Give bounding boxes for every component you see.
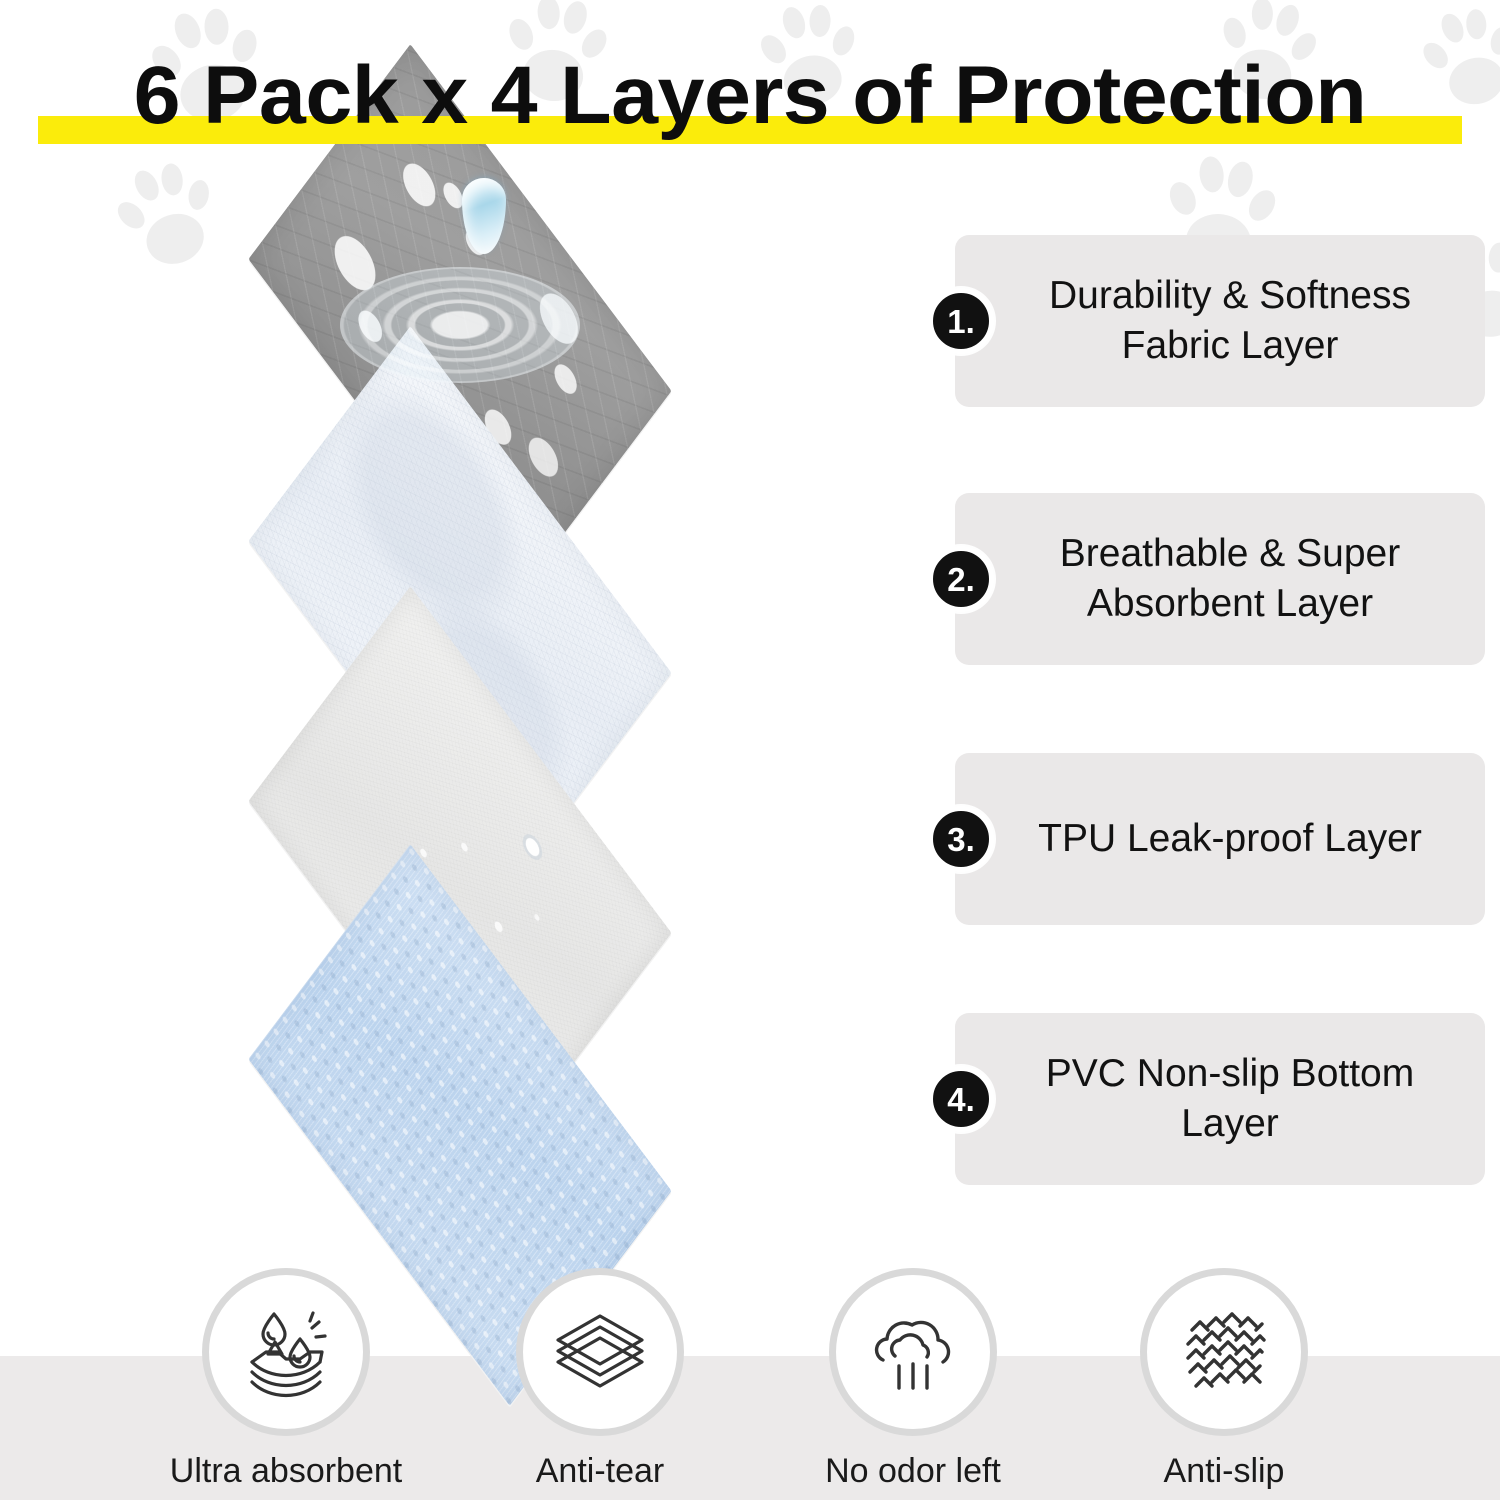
product-infographic: 6 Pack x 4 Layers of Protection Durabili…: [0, 0, 1500, 1500]
stacked-sheets-icon: [548, 1300, 652, 1404]
feature-label: Ultra absorbent: [136, 1452, 436, 1491]
feature-icon-circle: [829, 1268, 997, 1436]
feature-icon-circle: [202, 1268, 370, 1436]
cloud-rain-icon: [861, 1300, 965, 1404]
layer-card-3[interactable]: TPU Leak-proof Layer: [955, 753, 1485, 925]
crosshatch-texture-icon: [1172, 1300, 1276, 1404]
layer-card-1[interactable]: Durability & Softness Fabric Layer: [955, 235, 1485, 407]
feature-label: Anti-slip: [1074, 1452, 1374, 1491]
feature-anti-slip[interactable]: Anti-slip: [1074, 1268, 1374, 1491]
feature-anti-tear[interactable]: Anti-tear: [450, 1268, 750, 1491]
feature-icon-circle: [1140, 1268, 1308, 1436]
feature-no-odor-left[interactable]: No odor left: [763, 1268, 1063, 1491]
layer-card-2[interactable]: Breathable & Super Absorbent Layer: [955, 493, 1485, 665]
layer-badge-1: 1.: [928, 288, 994, 354]
layer-card-4[interactable]: PVC Non-slip Bottom Layer: [955, 1013, 1485, 1185]
layer-card-2-label: Breathable & Super Absorbent Layer: [970, 529, 1470, 629]
layer-card-3-label: TPU Leak-proof Layer: [992, 814, 1448, 864]
layer-card-4-label: PVC Non-slip Bottom Layer: [970, 1049, 1470, 1149]
feature-row: Ultra absorbent Anti-tear: [0, 1268, 1500, 1500]
water-drops-on-layers-icon: [234, 1300, 338, 1404]
layer-badge-4: 4.: [928, 1066, 994, 1132]
feature-label: Anti-tear: [450, 1452, 750, 1491]
layer-badge-2: 2.: [928, 546, 994, 612]
feature-icon-circle: [516, 1268, 684, 1436]
layer-card-1-label: Durability & Softness Fabric Layer: [970, 271, 1470, 371]
layer-badge-3: 3.: [928, 806, 994, 872]
feature-label: No odor left: [763, 1452, 1063, 1491]
feature-ultra-absorbent[interactable]: Ultra absorbent: [136, 1268, 436, 1491]
